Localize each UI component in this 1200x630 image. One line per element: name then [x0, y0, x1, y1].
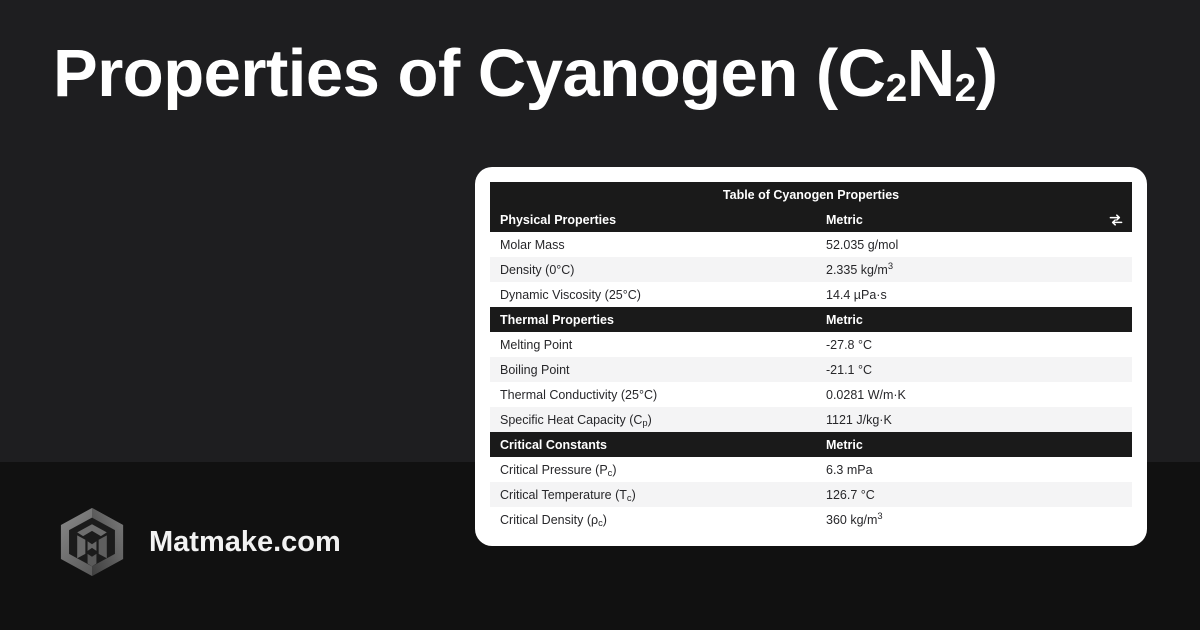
table-row: Critical Density (ρc) 360 kg/m3 [490, 507, 1132, 532]
property-label-tail: ) [612, 463, 616, 477]
section-header-critical: Critical Constants Metric [490, 432, 1132, 457]
property-label-base: Critical Density (ρ [500, 513, 598, 527]
property-value: 1121 J/kg·K [816, 407, 1132, 432]
section-metric-label: Metric [826, 213, 863, 227]
table-row: Boiling Point -21.1 °C [490, 357, 1132, 382]
property-value: -21.1 °C [816, 357, 1132, 382]
property-label-base: Critical Temperature (T [500, 488, 627, 502]
property-label-tail: ) [603, 513, 607, 527]
section-header-label: Critical Constants [490, 432, 816, 457]
property-value: 14.4 µPa·s [816, 282, 1132, 307]
property-label-subscript: c [598, 518, 603, 528]
property-label: Critical Pressure (Pc) [490, 457, 816, 482]
property-label-subscript: p [642, 418, 647, 428]
property-value: 360 kg/m3 [816, 507, 1132, 532]
property-value-base: 2.335 kg/m [826, 263, 888, 277]
section-metric-label: Metric [816, 307, 1132, 332]
section-header-label: Thermal Properties [490, 307, 816, 332]
property-label-base: Critical Pressure (P [500, 463, 608, 477]
table-row: Melting Point -27.8 °C [490, 332, 1132, 357]
property-label: Boiling Point [490, 357, 816, 382]
brand-footer: Matmake.com [55, 505, 341, 579]
property-label-subscript: c [627, 493, 632, 503]
section-metric-label: Metric [816, 432, 1132, 457]
table-row: Specific Heat Capacity (Cp) 1121 J/kg·K [490, 407, 1132, 432]
properties-table: Table of Cyanogen Properties Physical Pr… [490, 182, 1132, 532]
properties-card: Table of Cyanogen Properties Physical Pr… [475, 167, 1147, 546]
property-label-subscript: c [608, 468, 613, 478]
table-row: Molar Mass 52.035 g/mol [490, 232, 1132, 257]
property-value: -27.8 °C [816, 332, 1132, 357]
property-value-exponent: 3 [888, 261, 893, 271]
property-value-base: 360 kg/m [826, 513, 877, 527]
section-header-physical: Physical Properties Metric [490, 207, 1132, 232]
page-title-sub-1: 2 [886, 67, 907, 110]
page-title-sub-2: 2 [955, 67, 976, 110]
table-title-bar: Table of Cyanogen Properties [490, 182, 1132, 207]
matmake-cube-logo-icon [55, 505, 129, 579]
property-label: Dynamic Viscosity (25°C) [490, 282, 816, 307]
table-row: Density (0°C) 2.335 kg/m3 [490, 257, 1132, 282]
property-label-tail: ) [648, 413, 652, 427]
brand-name: Matmake.com [149, 526, 341, 559]
property-label: Critical Temperature (Tc) [490, 482, 816, 507]
property-label: Critical Density (ρc) [490, 507, 816, 532]
property-label: Thermal Conductivity (25°C) [490, 382, 816, 407]
section-header-thermal: Thermal Properties Metric [490, 307, 1132, 332]
property-label: Melting Point [490, 332, 816, 357]
table-title: Table of Cyanogen Properties [490, 182, 1132, 207]
property-value: 52.035 g/mol [816, 232, 1132, 257]
property-label: Density (0°C) [490, 257, 816, 282]
property-label-tail: ) [632, 488, 636, 502]
property-label-base: Specific Heat Capacity (C [500, 413, 642, 427]
table-row: Dynamic Viscosity (25°C) 14.4 µPa·s [490, 282, 1132, 307]
table-row: Critical Pressure (Pc) 6.3 mPa [490, 457, 1132, 482]
page-title: Properties of Cyanogen (C2N2) [53, 40, 998, 107]
property-label: Molar Mass [490, 232, 816, 257]
property-value: 6.3 mPa [816, 457, 1132, 482]
property-value: 126.7 °C [816, 482, 1132, 507]
section-header-label: Physical Properties [490, 207, 816, 232]
property-value-exponent: 3 [877, 511, 882, 521]
table-row: Thermal Conductivity (25°C) 0.0281 W/m·K [490, 382, 1132, 407]
swap-horizontal-icon[interactable] [1108, 212, 1124, 228]
property-label: Specific Heat Capacity (Cp) [490, 407, 816, 432]
page-title-suffix: ) [976, 36, 998, 111]
table-row: Critical Temperature (Tc) 126.7 °C [490, 482, 1132, 507]
property-value: 2.335 kg/m3 [816, 257, 1132, 282]
page-title-mid: N [907, 36, 955, 111]
page-title-prefix: Properties of Cyanogen (C [53, 36, 886, 111]
property-value: 0.0281 W/m·K [816, 382, 1132, 407]
